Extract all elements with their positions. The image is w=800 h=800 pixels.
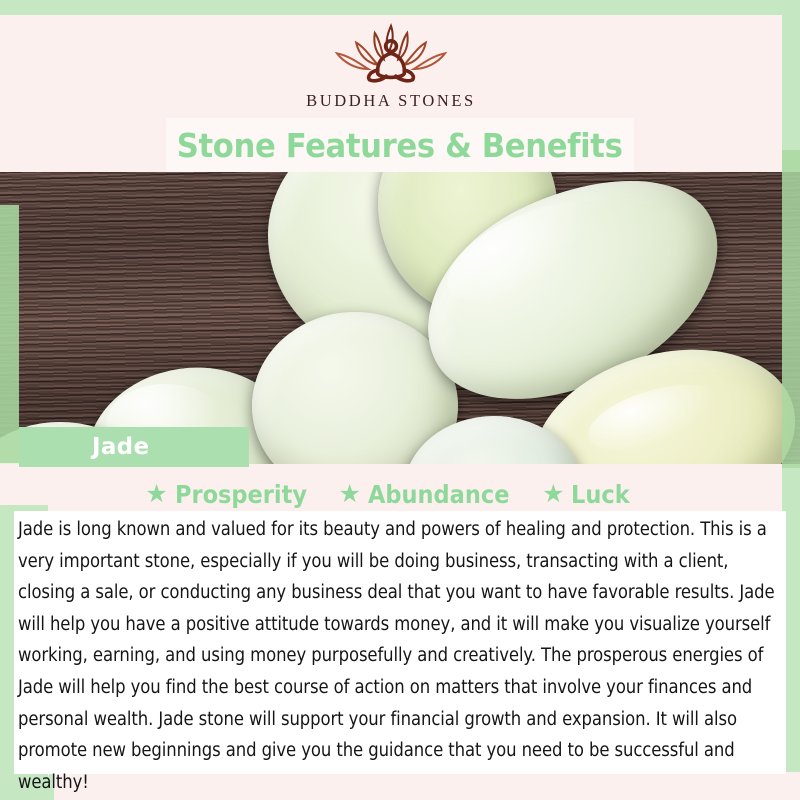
decor-band-right (782, 150, 800, 468)
page-title: Stone Features & Benefits (177, 126, 623, 165)
description-text: Jade is long known and valued for its be… (18, 514, 790, 798)
benefits-row: ★ Prosperity ★ Abundance ★ Luck (0, 478, 782, 511)
description-block: Jade is long known and valued for its be… (14, 511, 786, 774)
stone-photo (0, 172, 800, 464)
stone-name: Jade (92, 434, 149, 460)
stone-name-bar: Jade (19, 427, 249, 467)
benefit-label: Abundance (368, 480, 509, 509)
star-icon: ★ (145, 482, 167, 507)
benefit-item: ★ Luck (542, 480, 637, 509)
star-icon: ★ (338, 482, 360, 507)
benefit-item: ★ Prosperity (145, 480, 321, 509)
lotus-meditation-icon (318, 21, 464, 87)
benefit-label: Luck (571, 480, 630, 509)
decor-band-left (0, 205, 19, 463)
benefit-label: Prosperity (175, 480, 307, 509)
brand-name: BUDDHA STONES (306, 91, 476, 111)
benefit-item: ★ Abundance (338, 480, 525, 509)
star-icon: ★ (542, 482, 564, 507)
brand-header: BUDDHA STONES (0, 15, 782, 117)
title-banner: Stone Features & Benefits (166, 118, 634, 172)
